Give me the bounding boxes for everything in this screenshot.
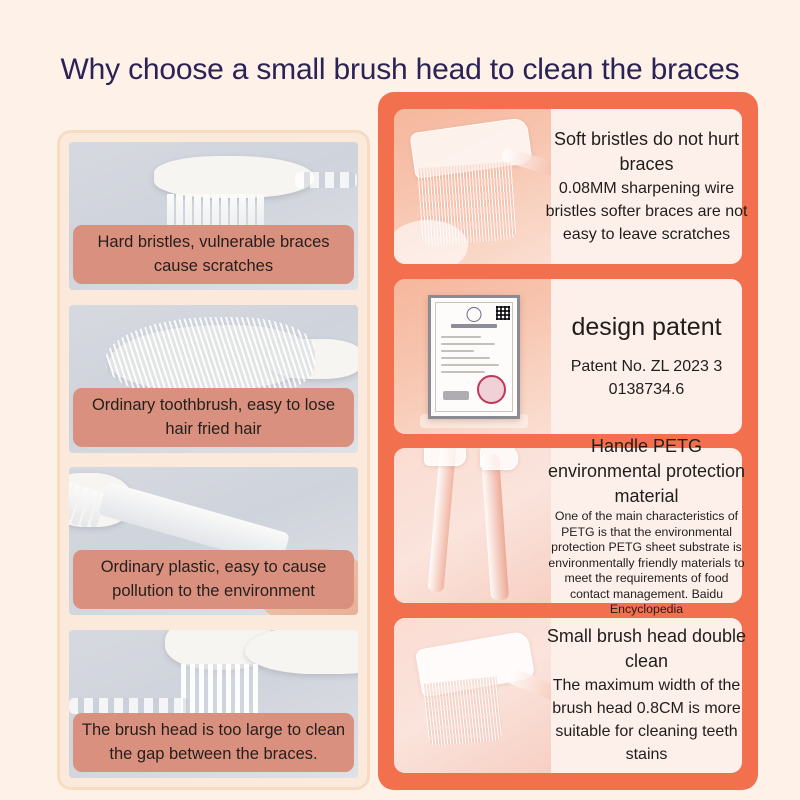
problem-card-caption: Ordinary plastic, easy to cause pollutio… bbox=[73, 550, 354, 609]
feature-card-body: One of the main characteristics of PETG … bbox=[543, 509, 750, 618]
feature-card-heading: Soft bristles do not hurt braces bbox=[543, 127, 750, 177]
feature-card-text: design patent Patent No. ZL 2023 3 01387… bbox=[551, 279, 742, 434]
feature-card: Small brush head double clean The maximu… bbox=[394, 618, 742, 773]
infographic-page: Why choose a small brush head to clean t… bbox=[0, 0, 800, 800]
problem-card-caption: The brush head is too large to clean the… bbox=[73, 713, 354, 772]
patent-certificate-icon bbox=[428, 295, 520, 419]
feature-card-text: Small brush head double clean The maximu… bbox=[551, 618, 742, 773]
problem-card: Ordinary toothbrush, easy to lose hair f… bbox=[69, 305, 358, 453]
problem-card-caption: Ordinary toothbrush, easy to lose hair f… bbox=[73, 388, 354, 447]
feature-card-heading: Handle PETG environmental protection mat… bbox=[543, 434, 750, 509]
problem-card: Hard bristles, vulnerable braces cause s… bbox=[69, 142, 358, 290]
feature-card: Soft bristles do not hurt braces 0.08MM … bbox=[394, 109, 742, 264]
problem-card-caption: Hard bristles, vulnerable braces cause s… bbox=[73, 225, 354, 284]
feature-card-heading: Small brush head double clean bbox=[543, 624, 750, 674]
small-brush-head-photo bbox=[394, 618, 551, 773]
feature-card: Handle PETG environmental protection mat… bbox=[394, 448, 742, 603]
feature-card-heading: design patent bbox=[571, 311, 721, 343]
feature-card-body: 0.08MM sharpening wire bristles softer b… bbox=[543, 177, 750, 246]
feature-card: design patent Patent No. ZL 2023 3 01387… bbox=[394, 279, 742, 434]
problem-card: The brush head is too large to clean the… bbox=[69, 630, 358, 778]
problem-card: Ordinary plastic, easy to cause pollutio… bbox=[69, 467, 358, 615]
feature-card-body: The maximum width of the brush head 0.8C… bbox=[543, 674, 750, 766]
soft-bristle-brush-head-photo bbox=[394, 109, 551, 264]
feature-card-text: Soft bristles do not hurt braces 0.08MM … bbox=[551, 109, 742, 264]
page-title: Why choose a small brush head to clean t… bbox=[0, 50, 800, 90]
feature-card-body: Patent No. ZL 2023 3 0138734.6 bbox=[543, 355, 750, 401]
feature-cards-container: Soft bristles do not hurt braces 0.08MM … bbox=[378, 92, 758, 790]
design-patent-certificate-photo bbox=[394, 279, 551, 434]
problem-cards-container: Hard bristles, vulnerable braces cause s… bbox=[57, 130, 370, 790]
feature-card-text: Handle PETG environmental protection mat… bbox=[551, 448, 742, 603]
petg-handle-photo bbox=[394, 448, 551, 603]
